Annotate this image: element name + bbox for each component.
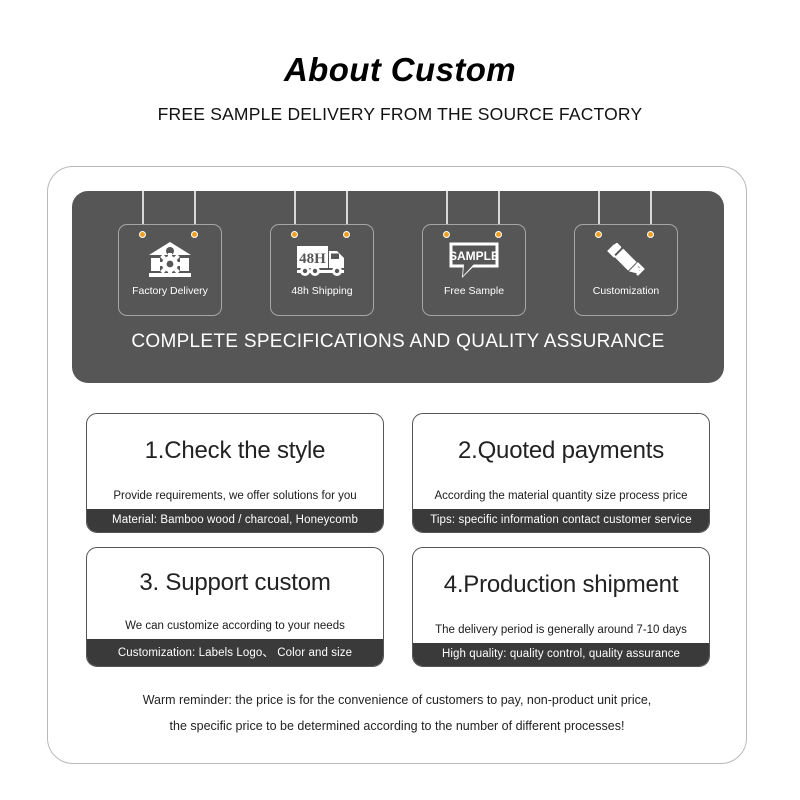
hanging-string-left-icon [446, 191, 448, 225]
delivery-truck-48h-icon: 48H [296, 238, 348, 282]
feature-customization[interactable]: Customization [574, 191, 678, 321]
step-card-3[interactable]: 3. Support custom We can customize accor… [86, 547, 384, 667]
step-footer: Material: Bamboo wood / charcoal, Honeyc… [87, 509, 383, 532]
feature-card: SAMPLE Free Sample [422, 224, 526, 316]
hanging-dot-left-icon [291, 231, 298, 238]
banner-caption: COMPLETE SPECIFICATIONS AND QUALITY ASSU… [72, 331, 724, 353]
page-header: About Custom FREE SAMPLE DELIVERY FROM T… [0, 0, 800, 125]
warm-reminder-note: Warm reminder: the price is for the conv… [48, 687, 746, 740]
feature-label: Factory Delivery [132, 286, 208, 298]
step-description: The delivery period is generally around … [413, 624, 709, 643]
content-frame: Factory Delivery 48H [47, 166, 747, 764]
step-description: Provide requirements, we offer solutions… [87, 490, 383, 509]
hanging-dot-right-icon [647, 231, 654, 238]
feature-free-sample[interactable]: SAMPLE Free Sample [422, 191, 526, 321]
hanging-dot-left-icon [595, 231, 602, 238]
svg-text:48H: 48H [299, 251, 326, 267]
hanging-dot-right-icon [191, 231, 198, 238]
note-line-1: Warm reminder: the price is for the conv… [48, 687, 746, 713]
feature-card: Factory Delivery [118, 224, 222, 316]
step-description: We can customize according to your needs [87, 620, 383, 639]
step-description: According the material quantity size pro… [413, 490, 709, 509]
pencil-ruler-icon [600, 238, 652, 282]
page-subtitle: FREE SAMPLE DELIVERY FROM THE SOURCE FAC… [0, 104, 800, 125]
step-title: 3. Support custom [87, 548, 383, 620]
feature-factory-delivery[interactable]: Factory Delivery [118, 191, 222, 321]
hanging-string-right-icon [194, 191, 196, 225]
hanging-string-right-icon [498, 191, 500, 225]
feature-label: Free Sample [444, 286, 504, 298]
feature-card: 48H [270, 224, 374, 316]
step-card-4[interactable]: 4.Production shipment The delivery perio… [412, 547, 710, 667]
hanging-dot-right-icon [343, 231, 350, 238]
hanging-dot-left-icon [139, 231, 146, 238]
feature-card: Customization [574, 224, 678, 316]
hanging-string-right-icon [650, 191, 652, 225]
step-card-1[interactable]: 1.Check the style Provide requirements, … [86, 413, 384, 533]
feature-row: Factory Delivery 48H [72, 191, 724, 321]
step-title: 1.Check the style [87, 414, 383, 490]
features-banner: Factory Delivery 48H [72, 191, 724, 383]
step-footer: High quality: quality control, quality a… [413, 643, 709, 666]
factory-building-gear-icon [144, 238, 196, 282]
feature-label: Customization [593, 286, 660, 298]
svg-text:SAMPLE: SAMPLE [449, 249, 499, 263]
hanging-dot-right-icon [495, 231, 502, 238]
steps-grid: 1.Check the style Provide requirements, … [86, 413, 710, 667]
hanging-dot-left-icon [443, 231, 450, 238]
feature-label: 48h Shipping [291, 286, 352, 298]
feature-48h-shipping[interactable]: 48H [270, 191, 374, 321]
step-footer: Tips: specific information contact custo… [413, 509, 709, 532]
hanging-string-right-icon [346, 191, 348, 225]
sample-speech-bubble-icon: SAMPLE [448, 238, 500, 282]
step-footer: Customization: Labels Logo、 Color and si… [87, 639, 383, 666]
hanging-string-left-icon [598, 191, 600, 225]
step-title: 4.Production shipment [413, 548, 709, 624]
page-title: About Custom [0, 52, 800, 88]
note-line-2: the specific price to be determined acco… [48, 713, 746, 739]
step-card-2[interactable]: 2.Quoted payments According the material… [412, 413, 710, 533]
hanging-string-left-icon [294, 191, 296, 225]
hanging-string-left-icon [142, 191, 144, 225]
step-title: 2.Quoted payments [413, 414, 709, 490]
